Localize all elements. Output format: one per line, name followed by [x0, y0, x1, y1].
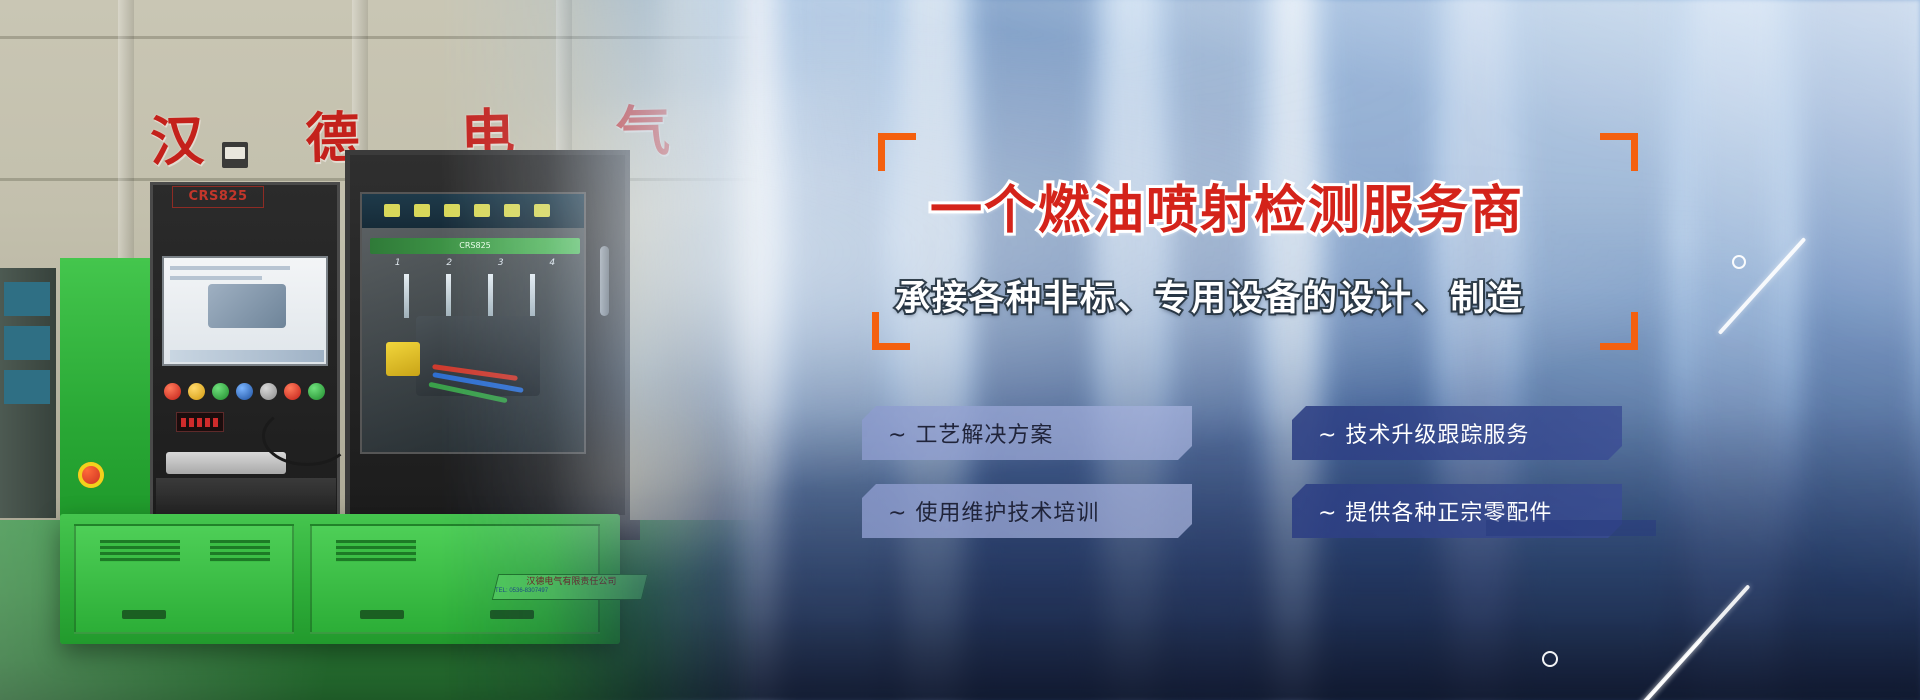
decor-bar [1486, 520, 1656, 536]
decor-ring-1-icon [1732, 255, 1746, 269]
banner-content: 一个燃油喷射检测服务商 承接各种非标、专用设备的设计、制造 ~ 工艺解决方案 ~… [0, 0, 1920, 700]
feature-chip-process-solution[interactable]: ~ 工艺解决方案 [862, 406, 1192, 460]
feature-chip-label: ~ 使用维护技术培训 [888, 495, 1099, 527]
hero-banner: 汉 德 电 气 CRS825 1 2 3 4 [0, 0, 1920, 700]
decor-ring-2-icon [1542, 651, 1558, 667]
feature-chip-training[interactable]: ~ 使用维护技术培训 [862, 484, 1192, 538]
feature-chip-label: ~ 技术升级跟踪服务 [1318, 417, 1529, 449]
headline: 一个燃油喷射检测服务商 [930, 168, 1590, 243]
decor-line-2 [1614, 584, 1751, 700]
feature-chip-upgrade-service[interactable]: ~ 技术升级跟踪服务 [1292, 406, 1622, 460]
feature-chip-label: ~ 工艺解决方案 [888, 417, 1053, 449]
corner-bracket-top-left-icon [878, 133, 916, 171]
corner-bracket-top-right-icon [1600, 133, 1638, 171]
decor-line-3 [1600, 638, 1703, 700]
decor-line-1 [1718, 237, 1807, 335]
subheadline: 承接各种非标、专用设备的设计、制造 [895, 270, 1615, 321]
